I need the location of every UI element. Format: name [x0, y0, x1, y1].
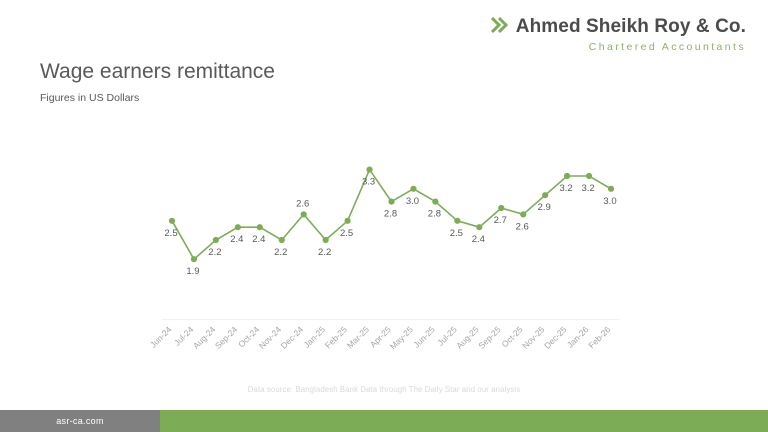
data-point[interactable]	[432, 199, 438, 205]
data-label: 2.6	[296, 198, 309, 209]
data-label: 3.2	[581, 183, 594, 194]
data-point[interactable]	[366, 167, 372, 173]
footer-accent-block	[160, 410, 768, 432]
data-point[interactable]	[213, 237, 219, 243]
x-axis-tick-label: Dec-25	[542, 324, 569, 351]
data-label: 2.4	[472, 234, 485, 245]
data-label: 2.9	[538, 202, 551, 213]
data-point[interactable]	[608, 186, 614, 192]
data-label: 2.2	[318, 247, 331, 258]
footer-site-label: asr-ca.com	[56, 416, 104, 426]
x-axis-tick-label: Jun-25	[411, 324, 437, 350]
data-point[interactable]	[520, 211, 526, 217]
x-axis-tick-label: Aug-24	[191, 324, 218, 351]
x-axis-tick-label: Mar-25	[345, 324, 371, 350]
data-point[interactable]	[345, 218, 351, 224]
remittance-line-chart: 2.51.92.22.42.42.22.62.22.53.32.83.02.82…	[0, 0, 768, 432]
footer-bar: asr-ca.com	[0, 410, 768, 432]
data-label: 3.3	[362, 177, 375, 188]
x-axis-tick-label: Feb-26	[586, 324, 612, 350]
x-axis-tick-label: Jan-25	[302, 324, 328, 350]
data-label: 3.2	[559, 183, 572, 194]
data-label: 2.4	[230, 234, 243, 245]
data-point[interactable]	[586, 173, 592, 179]
data-point[interactable]	[476, 224, 482, 230]
x-axis-tick-label: Jan-26	[565, 324, 591, 350]
data-point[interactable]	[301, 211, 307, 217]
data-label: 2.8	[428, 209, 441, 220]
x-axis-tick-label: Jun-24	[148, 324, 174, 350]
chart-x-axis-labels: Jun-24Jul-24Aug-24Sep-24Oct-24Nov-24Dec-…	[148, 324, 613, 351]
x-axis-tick-label: Sep-24	[213, 324, 240, 351]
data-point[interactable]	[410, 186, 416, 192]
data-point[interactable]	[279, 237, 285, 243]
data-label: 2.2	[274, 247, 287, 258]
data-label: 2.5	[164, 228, 177, 239]
data-point[interactable]	[169, 218, 175, 224]
x-axis-tick-label: Nov-25	[520, 324, 547, 351]
data-label: 2.4	[252, 234, 265, 245]
data-point[interactable]	[454, 218, 460, 224]
x-axis-tick-label: Sep-25	[476, 324, 503, 351]
data-label: 2.8	[384, 209, 397, 220]
x-axis-tick-label: Aug-25	[454, 324, 481, 351]
data-point[interactable]	[323, 237, 329, 243]
data-label: 2.5	[450, 228, 463, 239]
data-label: 2.5	[340, 228, 353, 239]
footer-site-block: asr-ca.com	[0, 410, 160, 432]
source-note: Data source: Bangladesh Bank Data throug…	[0, 385, 768, 394]
x-axis-tick-label: May-25	[388, 324, 415, 351]
data-point[interactable]	[257, 224, 263, 230]
data-label: 3.0	[603, 196, 616, 207]
data-point[interactable]	[388, 199, 394, 205]
data-label: 1.9	[186, 266, 199, 277]
data-point[interactable]	[191, 256, 197, 262]
data-label: 2.6	[516, 221, 529, 232]
x-axis-tick-label: Feb-25	[323, 324, 349, 350]
data-label: 3.0	[406, 196, 419, 207]
slide: Ahmed Sheikh Roy & Co. Chartered Account…	[0, 0, 768, 432]
x-axis-tick-label: Nov-24	[257, 324, 284, 351]
data-point[interactable]	[542, 192, 548, 198]
data-point[interactable]	[235, 224, 241, 230]
data-point[interactable]	[498, 205, 504, 211]
x-axis-tick-label: Dec-24	[279, 324, 306, 351]
data-label: 2.2	[208, 247, 221, 258]
data-label: 2.7	[494, 215, 507, 226]
data-point[interactable]	[564, 173, 570, 179]
